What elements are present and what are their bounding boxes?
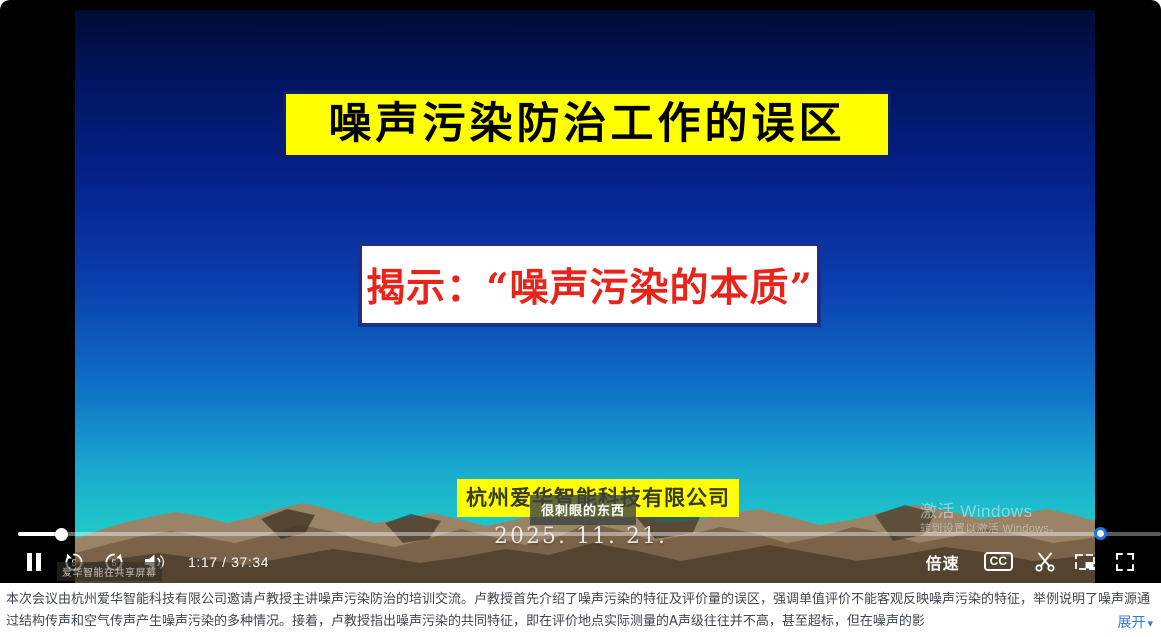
player-controls-right: 倍速 CC <box>914 542 1161 582</box>
playback-speed-button[interactable]: 倍速 <box>914 550 972 574</box>
scissors-icon <box>1033 550 1057 574</box>
description-panel: 本次会议由杭州爱华智能科技有限公司邀请卢教授主讲噪声污染防治的培训交流。卢教授首… <box>0 583 1161 637</box>
video-player[interactable]: 噪声污染防治工作的误区 揭示：“噪声污染的本质” 杭州爱华智能科技有限公司 激活… <box>0 0 1161 583</box>
pause-button[interactable] <box>14 542 54 582</box>
captions-button[interactable]: CC <box>984 552 1013 571</box>
seek-track[interactable] <box>18 532 1098 536</box>
slide-subtitle-text: 揭示：“噪声污染的本质” <box>366 257 813 313</box>
slide-subtitle-box: 揭示：“噪声污染的本质” <box>358 242 821 327</box>
fullscreen-icon <box>1113 550 1137 574</box>
slide-title-box: 噪声污染防治工作的误区 <box>283 91 891 158</box>
slide-title-text: 噪声污染防治工作的误区 <box>329 103 846 146</box>
screen-share-watermark: 爱华智能在共享屏幕 <box>57 562 162 581</box>
chevron-down-icon: ▾ <box>1147 618 1153 630</box>
expand-description-button[interactable]: 展开▾ <box>1103 612 1153 632</box>
pause-icon <box>25 552 43 572</box>
clip-button[interactable] <box>1025 542 1065 582</box>
volume-track[interactable] <box>1100 532 1161 536</box>
time-display: 1:17 / 37:34 <box>188 554 269 570</box>
description-text: 本次会议由杭州爱华智能科技有限公司邀请卢教授主讲噪声污染防治的培训交流。卢教授首… <box>6 589 1151 633</box>
volume-slider[interactable] <box>1094 527 1161 541</box>
expand-label: 展开 <box>1117 614 1145 630</box>
description-line-1: 本次会议由杭州爱华智能科技有限公司邀请卢教授主讲噪声污染防治的培训交流。卢教授首… <box>6 592 1059 607</box>
seek-bar[interactable] <box>0 528 1161 540</box>
picture-in-picture-button[interactable] <box>1065 542 1105 582</box>
volume-handle[interactable] <box>1094 527 1107 540</box>
fullscreen-button[interactable] <box>1105 542 1145 582</box>
picture-in-picture-icon <box>1073 550 1097 574</box>
player-controls-bar: 5 5 1:17 / 37:34 <box>0 540 1161 583</box>
annotation-tooltip: 很刺眼的东西 <box>530 495 636 525</box>
